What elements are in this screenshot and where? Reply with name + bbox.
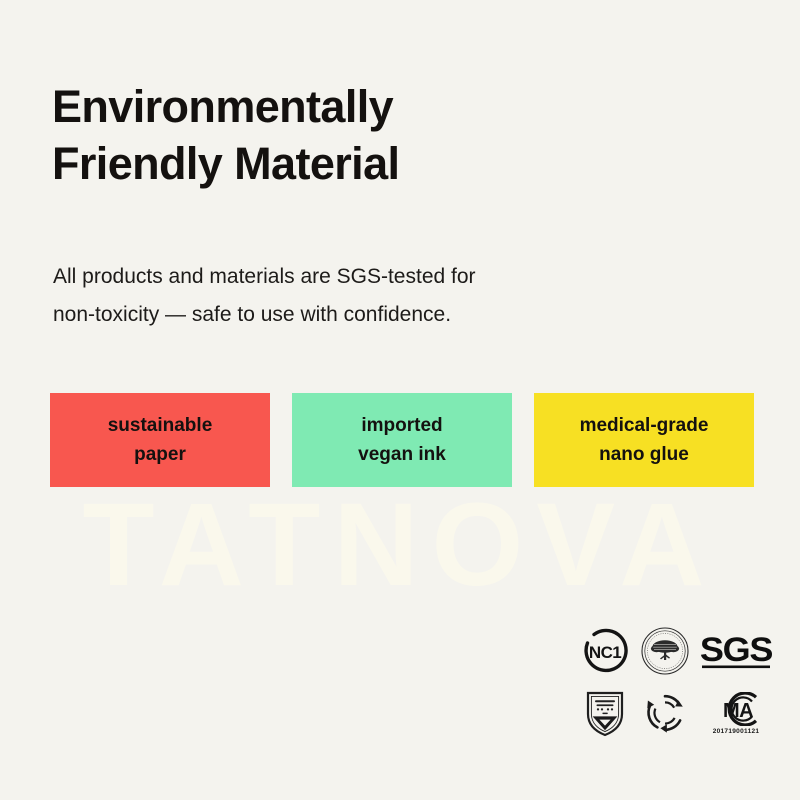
chip-label-line-1: medical-grade xyxy=(580,411,709,440)
description-text: All products and materials are SGS-teste… xyxy=(53,258,673,334)
cma-certification-icon: MA 201719001121 xyxy=(696,685,776,741)
certification-badge-group: NC1 xyxy=(576,622,776,746)
material-chip-group: sustainable paper imported vegan ink med… xyxy=(50,393,755,487)
page-title: Environmentally Friendly Material xyxy=(52,78,732,192)
chip-label-line-1: sustainable xyxy=(108,411,213,440)
description-line-2: non-toxicity — safe to use with confiden… xyxy=(53,296,673,334)
tree-seal-icon xyxy=(634,623,696,679)
chip-imported-vegan-ink: imported vegan ink xyxy=(292,393,512,487)
chip-label-line-1: imported xyxy=(361,411,442,440)
nc1-certification-icon: NC1 xyxy=(576,623,634,679)
brand-watermark: TATNOVA xyxy=(0,486,800,604)
chip-medical-grade-nano-glue: medical-grade nano glue xyxy=(534,393,754,487)
poster-canvas: TATNOVA Environmentally Friendly Materia… xyxy=(0,0,800,800)
page-title-line-2: Friendly Material xyxy=(52,135,732,192)
chip-sustainable-paper: sustainable paper xyxy=(50,393,270,487)
svg-text:MA: MA xyxy=(723,700,753,722)
page-title-line-1: Environmentally xyxy=(52,78,732,135)
svg-text:NC1: NC1 xyxy=(589,643,621,662)
description-line-1: All products and materials are SGS-teste… xyxy=(53,258,673,296)
certification-row-top: NC1 xyxy=(576,622,776,680)
shield-certification-icon xyxy=(576,685,634,741)
sgs-logo-icon: SGS xyxy=(696,623,776,679)
chip-label-line-2: paper xyxy=(134,440,186,469)
chip-label-line-2: nano glue xyxy=(599,440,689,469)
svg-text:SGS: SGS xyxy=(700,631,772,669)
cma-certificate-number: 201719001121 xyxy=(713,728,760,735)
certification-row-bottom: MA 201719001121 xyxy=(576,684,776,742)
recycling-arrows-icon xyxy=(634,685,696,741)
chip-label-line-2: vegan ink xyxy=(358,440,446,469)
